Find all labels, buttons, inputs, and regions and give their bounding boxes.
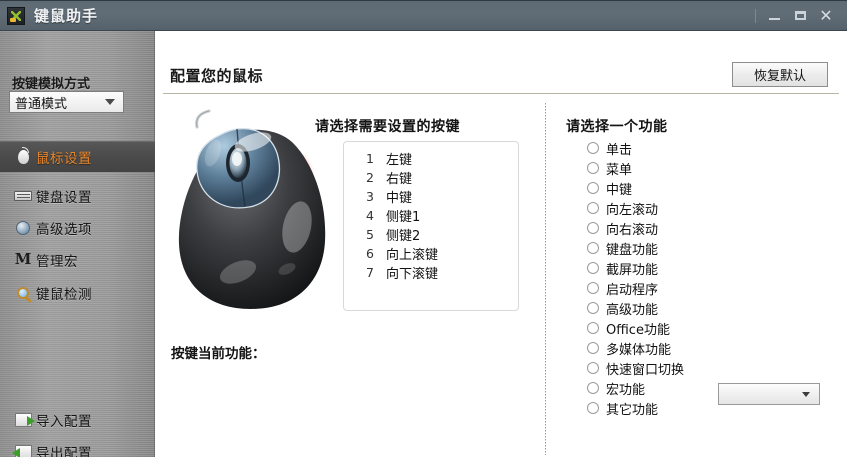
key-number: 3 — [344, 189, 386, 204]
key-number: 4 — [344, 208, 386, 223]
sidebar-item-export-config[interactable]: 导出配置 — [0, 436, 155, 457]
chevron-down-icon — [802, 392, 810, 397]
app-logo-icon — [7, 7, 25, 25]
list-item[interactable]: 3 中键 — [344, 187, 518, 206]
function-radio-group: 单击 菜单 中键 向左滚动 向右滚动 键盘功能 — [587, 138, 787, 418]
macro-select[interactable] — [718, 383, 820, 405]
gear-icon — [10, 221, 36, 235]
radio-label: 截屏功能 — [606, 259, 658, 278]
radio-option-launch-program[interactable]: 启动程序 — [587, 278, 787, 298]
radio-icon — [587, 202, 599, 214]
key-list[interactable]: 1 左键 2 右键 3 中键 4 侧键1 5 侧键2 6 向上滚键 — [343, 141, 519, 311]
sidebar-item-import-config[interactable]: 导入配置 — [0, 404, 155, 435]
radio-icon — [587, 182, 599, 194]
list-item[interactable]: 4 侧键1 — [344, 206, 518, 225]
radio-option-multimedia-function[interactable]: 多媒体功能 — [587, 338, 787, 358]
sidebar-item-label: 键盘设置 — [36, 186, 92, 206]
header-divider — [163, 93, 839, 94]
sidebar-item-manage-macros[interactable]: M 管理宏 — [0, 244, 155, 275]
radio-label: 单击 — [606, 139, 632, 158]
radio-option-scroll-right[interactable]: 向右滚动 — [587, 218, 787, 238]
radio-icon — [587, 262, 599, 274]
restore-default-button[interactable]: 恢复默认 — [732, 62, 828, 87]
radio-icon — [587, 162, 599, 174]
minimize-button[interactable] — [761, 5, 787, 27]
column-divider — [545, 103, 546, 455]
key-number: 7 — [344, 265, 386, 280]
sidebar-item-label: 高级选项 — [36, 218, 92, 238]
sidebar-item-keyboard-settings[interactable]: 键盘设置 — [0, 180, 155, 211]
key-label: 侧键1 — [386, 206, 420, 225]
sim-mode-value: 普通模式 — [10, 93, 105, 112]
radio-label: 宏功能 — [606, 379, 645, 398]
key-column-title: 请选择需要设置的按键 — [315, 116, 460, 136]
radio-label: 向左滚动 — [606, 199, 658, 218]
radio-label: 向右滚动 — [606, 219, 658, 238]
radio-label: 启动程序 — [606, 279, 658, 298]
mouse-illustration — [165, 109, 340, 314]
mouse-icon — [10, 150, 36, 164]
sim-mode-select[interactable]: 普通模式 — [9, 91, 124, 113]
maximize-button[interactable] — [787, 5, 813, 27]
radio-icon — [587, 382, 599, 394]
radio-icon — [587, 302, 599, 314]
radio-label: 多媒体功能 — [606, 339, 671, 358]
radio-icon — [587, 362, 599, 374]
key-label: 向上滚键 — [386, 244, 438, 263]
import-icon — [10, 413, 36, 427]
close-icon: ✕ — [819, 8, 832, 24]
window-controls: ✕ — [753, 1, 847, 30]
title-bar: 键鼠助手 ✕ — [0, 0, 847, 31]
radio-icon — [587, 222, 599, 234]
radio-icon — [587, 402, 599, 414]
sim-mode-label: 按键模拟方式 — [12, 73, 90, 92]
restore-default-label: 恢复默认 — [754, 65, 806, 84]
radio-icon — [587, 282, 599, 294]
radio-icon — [587, 342, 599, 354]
radio-option-single-click[interactable]: 单击 — [587, 138, 787, 158]
function-column-title: 请选择一个功能 — [566, 116, 668, 136]
sidebar-item-label: 导出配置 — [36, 442, 92, 457]
window-title: 键鼠助手 — [34, 5, 98, 26]
radio-label: 其它功能 — [606, 399, 658, 418]
sidebar-item-label: 导入配置 — [36, 410, 92, 430]
export-icon — [10, 445, 36, 457]
list-item[interactable]: 2 右键 — [344, 168, 518, 187]
window-controls-separator — [755, 9, 756, 23]
radio-icon — [587, 242, 599, 254]
key-label: 左键 — [386, 149, 412, 168]
radio-icon — [587, 142, 599, 154]
radio-option-office-function[interactable]: Office功能 — [587, 318, 787, 338]
radio-option-menu[interactable]: 菜单 — [587, 158, 787, 178]
radio-label: 菜单 — [606, 159, 632, 178]
radio-option-screenshot-function[interactable]: 截屏功能 — [587, 258, 787, 278]
sidebar-item-device-detect[interactable]: 键鼠检测 — [0, 277, 155, 308]
key-number: 2 — [344, 170, 386, 185]
radio-option-keyboard-function[interactable]: 键盘功能 — [587, 238, 787, 258]
radio-label: 高级功能 — [606, 299, 658, 318]
magnifier-icon — [10, 287, 36, 299]
current-function-label: 按键当前功能： — [171, 342, 266, 362]
sidebar-item-label: 鼠标设置 — [36, 147, 92, 167]
list-item[interactable]: 7 向下滚键 — [344, 263, 518, 282]
main-content: 配置您的鼠标 恢复默认 — [155, 31, 847, 457]
macro-m-icon: M — [10, 252, 36, 267]
sidebar-item-label: 管理宏 — [36, 250, 78, 270]
maximize-icon — [795, 11, 806, 20]
radio-label: 键盘功能 — [606, 239, 658, 258]
radio-option-scroll-left[interactable]: 向左滚动 — [587, 198, 787, 218]
radio-option-middle-click[interactable]: 中键 — [587, 178, 787, 198]
key-label: 右键 — [386, 168, 412, 187]
sidebar: 按键模拟方式 普通模式 鼠标设置 键盘设置 高级选项 M 管理宏 键鼠检测 — [0, 31, 155, 457]
key-label: 向下滚键 — [386, 263, 438, 282]
sidebar-item-advanced-options[interactable]: 高级选项 — [0, 212, 155, 243]
key-number: 5 — [344, 227, 386, 242]
radio-label: Office功能 — [606, 319, 670, 338]
key-label: 中键 — [386, 187, 412, 206]
page-title: 配置您的鼠标 — [170, 65, 263, 86]
sidebar-item-label: 键鼠检测 — [36, 283, 92, 303]
key-number: 1 — [344, 151, 386, 166]
keyboard-icon — [10, 191, 36, 201]
key-label: 侧键2 — [386, 225, 420, 244]
chevron-down-icon — [105, 99, 115, 105]
radio-option-advanced-function[interactable]: 高级功能 — [587, 298, 787, 318]
radio-icon — [587, 322, 599, 334]
minimize-icon — [769, 18, 780, 20]
application-window: 键鼠助手 ✕ 按键模拟方式 普通模式 鼠标设置 键盘设置 — [0, 0, 847, 457]
list-item[interactable]: 1 左键 — [344, 149, 518, 168]
radio-label: 中键 — [606, 179, 632, 198]
radio-option-quick-window-switch[interactable]: 快速窗口切换 — [587, 358, 787, 378]
list-item[interactable]: 6 向上滚键 — [344, 244, 518, 263]
list-item[interactable]: 5 侧键2 — [344, 225, 518, 244]
sidebar-item-mouse-settings[interactable]: 鼠标设置 — [0, 141, 155, 172]
key-number: 6 — [344, 246, 386, 261]
radio-label: 快速窗口切换 — [606, 359, 684, 378]
close-button[interactable]: ✕ — [813, 5, 839, 27]
